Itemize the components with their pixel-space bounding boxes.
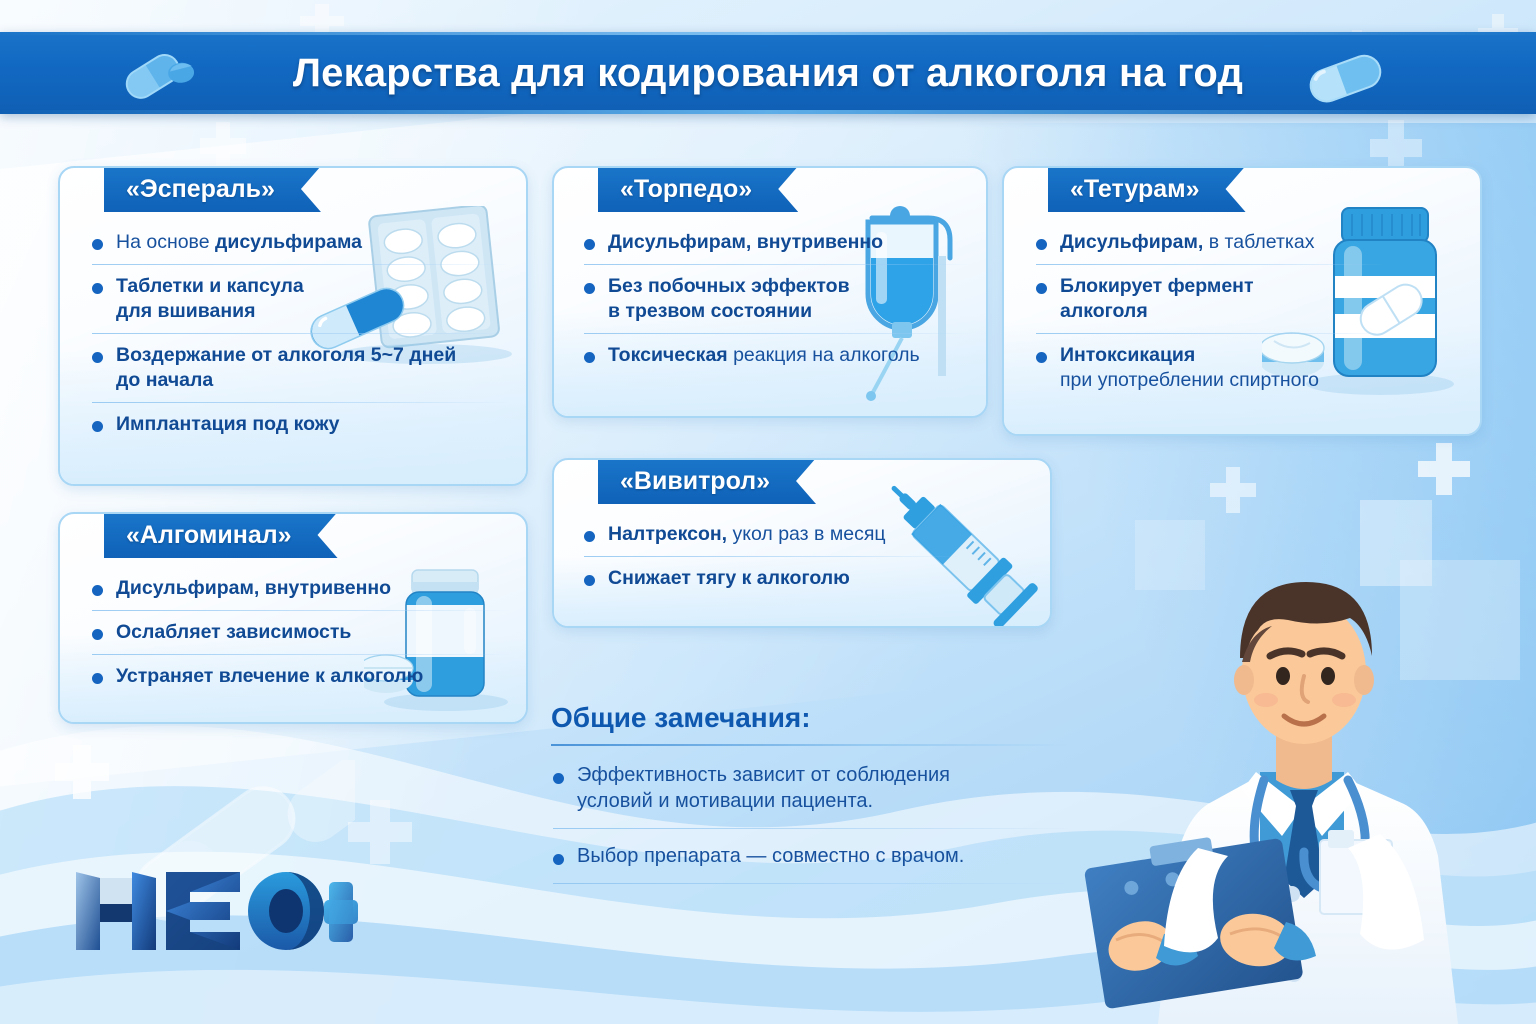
- card-title-teturam: «Тетурам»: [1070, 175, 1200, 204]
- neo-plus-logo-icon: [70, 862, 360, 958]
- card-esperal[interactable]: «Эсперaль» На основе дисульфирама Таблет…: [58, 166, 528, 486]
- list-item: Налтрексон, укол раз в месяц: [582, 522, 962, 547]
- notes-title: Общие замечания:: [551, 702, 1071, 734]
- list-item: Блокирует фермент алкоголя: [1034, 274, 1386, 324]
- list-item: Эффективность зависит от соблюдения усло…: [551, 762, 1071, 814]
- list-item: Ослабляет зависимость: [90, 620, 510, 645]
- separator: [92, 654, 510, 655]
- list-item: Дисульфирам, в таблетках: [1034, 230, 1386, 255]
- card-title-ribbon-esperal: «Эсперaль»: [104, 166, 321, 212]
- bullet-dot: [584, 283, 595, 294]
- card-title-ribbon-vivitrol: «Вивитрол»: [598, 458, 816, 504]
- bullet-text: Токсическая реакция на алкоголь: [608, 343, 972, 368]
- list-item: Дисульфирам, внутривенно: [90, 576, 510, 601]
- notes-section: Общие замечания: Эффективность зависит о…: [551, 702, 1071, 884]
- card-torpedo[interactable]: «Торпедо» Дисульфирам, внутривенно Без п…: [552, 166, 988, 418]
- separator: [584, 556, 962, 557]
- bullet-emphasis: дисульфирама: [215, 231, 362, 253]
- list-item: Токсическая реакция на алкоголь: [582, 343, 972, 368]
- card-title-ribbon-algominal: «Алгоминал»: [104, 512, 338, 558]
- page-title: Лекарства для кодирования от алкоголя на…: [293, 51, 1243, 96]
- bullet-text: Налтрексон, укол раз в месяц: [608, 522, 962, 547]
- cross-icon: [348, 800, 412, 864]
- list-item: Дисульфирам, внутривенно: [582, 230, 972, 255]
- separator: [584, 333, 972, 334]
- list-item: Устраняет влечение к алкоголю: [90, 664, 510, 689]
- card-vivitrol[interactable]: «Вивитрол» Налтрексон, укол раз в месяц …: [552, 458, 1052, 628]
- bullet-dot: [92, 239, 103, 250]
- bullet-text: Имплантация под кожу: [116, 412, 508, 437]
- bullet-text: На основе дисульфирама: [116, 230, 508, 255]
- list-item: Снижает тягу к алкоголю: [582, 566, 962, 591]
- separator: [92, 610, 510, 611]
- separator: [92, 333, 508, 334]
- bullet-dot: [1036, 283, 1047, 294]
- bullet-dot: [1036, 352, 1047, 363]
- separator: [1036, 264, 1386, 265]
- card-title-vivitrol: «Вивитрол»: [620, 467, 770, 496]
- card-title-algominal: «Алгоминал»: [126, 521, 292, 550]
- bullet-text: Дисульфирам, внутривенно: [116, 576, 510, 601]
- doctor-with-clipboard-illustration: [1080, 504, 1530, 1024]
- separator: [551, 744, 1071, 746]
- bullet-dot: [92, 352, 103, 363]
- capsule-pill-icon: [120, 44, 200, 102]
- bullet-text: Дисульфирам, в таблетках: [1060, 230, 1386, 255]
- bullet-text: Дисульфирам, внутривенно: [608, 230, 972, 255]
- bullet-dot: [1036, 239, 1047, 250]
- list-item: Выбор препарата — совместно с врачом.: [551, 843, 1071, 869]
- bullet-dot: [584, 531, 595, 542]
- separator: [1036, 333, 1386, 334]
- bullet-text: Ослабляет зависимость: [116, 620, 510, 645]
- bullet-dot: [92, 421, 103, 432]
- bullet-text: Снижает тягу к алкоголю: [608, 566, 962, 591]
- bullet-dot: [92, 585, 103, 596]
- bullet-text: Воздержание от алкоголя 5~7 дней до нача…: [116, 343, 508, 393]
- list-item: Таблетки и капсула для вшивания: [90, 274, 508, 324]
- note-text: Выбор препарата — совместно с врачом.: [577, 843, 1071, 869]
- bullet-dot: [553, 773, 564, 784]
- list-item: Интоксикация при употреблении спиртного: [1034, 343, 1386, 393]
- separator: [584, 264, 972, 265]
- list-item: Воздержание от алкоголя 5~7 дней до нача…: [90, 343, 508, 393]
- separator: [92, 402, 508, 403]
- bullet-dot: [584, 575, 595, 586]
- bullet-text: Блокирует фермент алкоголя: [1060, 274, 1386, 324]
- capsule-pill-icon: [1303, 50, 1391, 104]
- list-item: На основе дисульфирама: [90, 230, 508, 255]
- note-text: Эффективность зависит от соблюдения усло…: [577, 762, 1071, 814]
- separator: [553, 883, 1071, 884]
- card-title-ribbon-torpedo: «Торпедо»: [598, 166, 798, 212]
- bullet-text: Таблетки и капсула для вшивания: [116, 274, 508, 324]
- cross-icon: [1418, 443, 1470, 495]
- bullet-dot: [92, 283, 103, 294]
- card-title-torpedo: «Торпедо»: [620, 175, 752, 204]
- bullet-text: Интоксикация при употреблении спиртного: [1060, 343, 1386, 393]
- bullet-dot: [584, 239, 595, 250]
- card-teturam[interactable]: «Тетурам» Дисульфирам, в таблетках Блоки…: [1002, 166, 1482, 436]
- separator: [92, 264, 508, 265]
- bullet-dot: [553, 854, 564, 865]
- list-item: Имплантация под кожу: [90, 412, 508, 437]
- bullet-dot: [584, 352, 595, 363]
- bullet-text: Без побочных эффектов в трезвом состояни…: [608, 274, 972, 324]
- logo[interactable]: [70, 862, 360, 963]
- card-title-ribbon-teturam: «Тетурам»: [1048, 166, 1246, 212]
- list-item: Без побочных эффектов в трезвом состояни…: [582, 274, 972, 324]
- bullet-dot: [92, 673, 103, 684]
- header-banner: Лекарства для кодирования от алкоголя на…: [0, 32, 1536, 114]
- bullet-text: Устраняет влечение к алкоголю: [116, 664, 510, 689]
- card-algominal[interactable]: «Алгоминал» Дисульфирам, внутривенно Осл…: [58, 512, 528, 724]
- card-title-esperal: «Эсперaль»: [126, 175, 275, 204]
- cross-icon: [200, 122, 246, 170]
- cross-icon: [55, 745, 109, 799]
- bullet-dot: [92, 629, 103, 640]
- separator: [553, 828, 1071, 829]
